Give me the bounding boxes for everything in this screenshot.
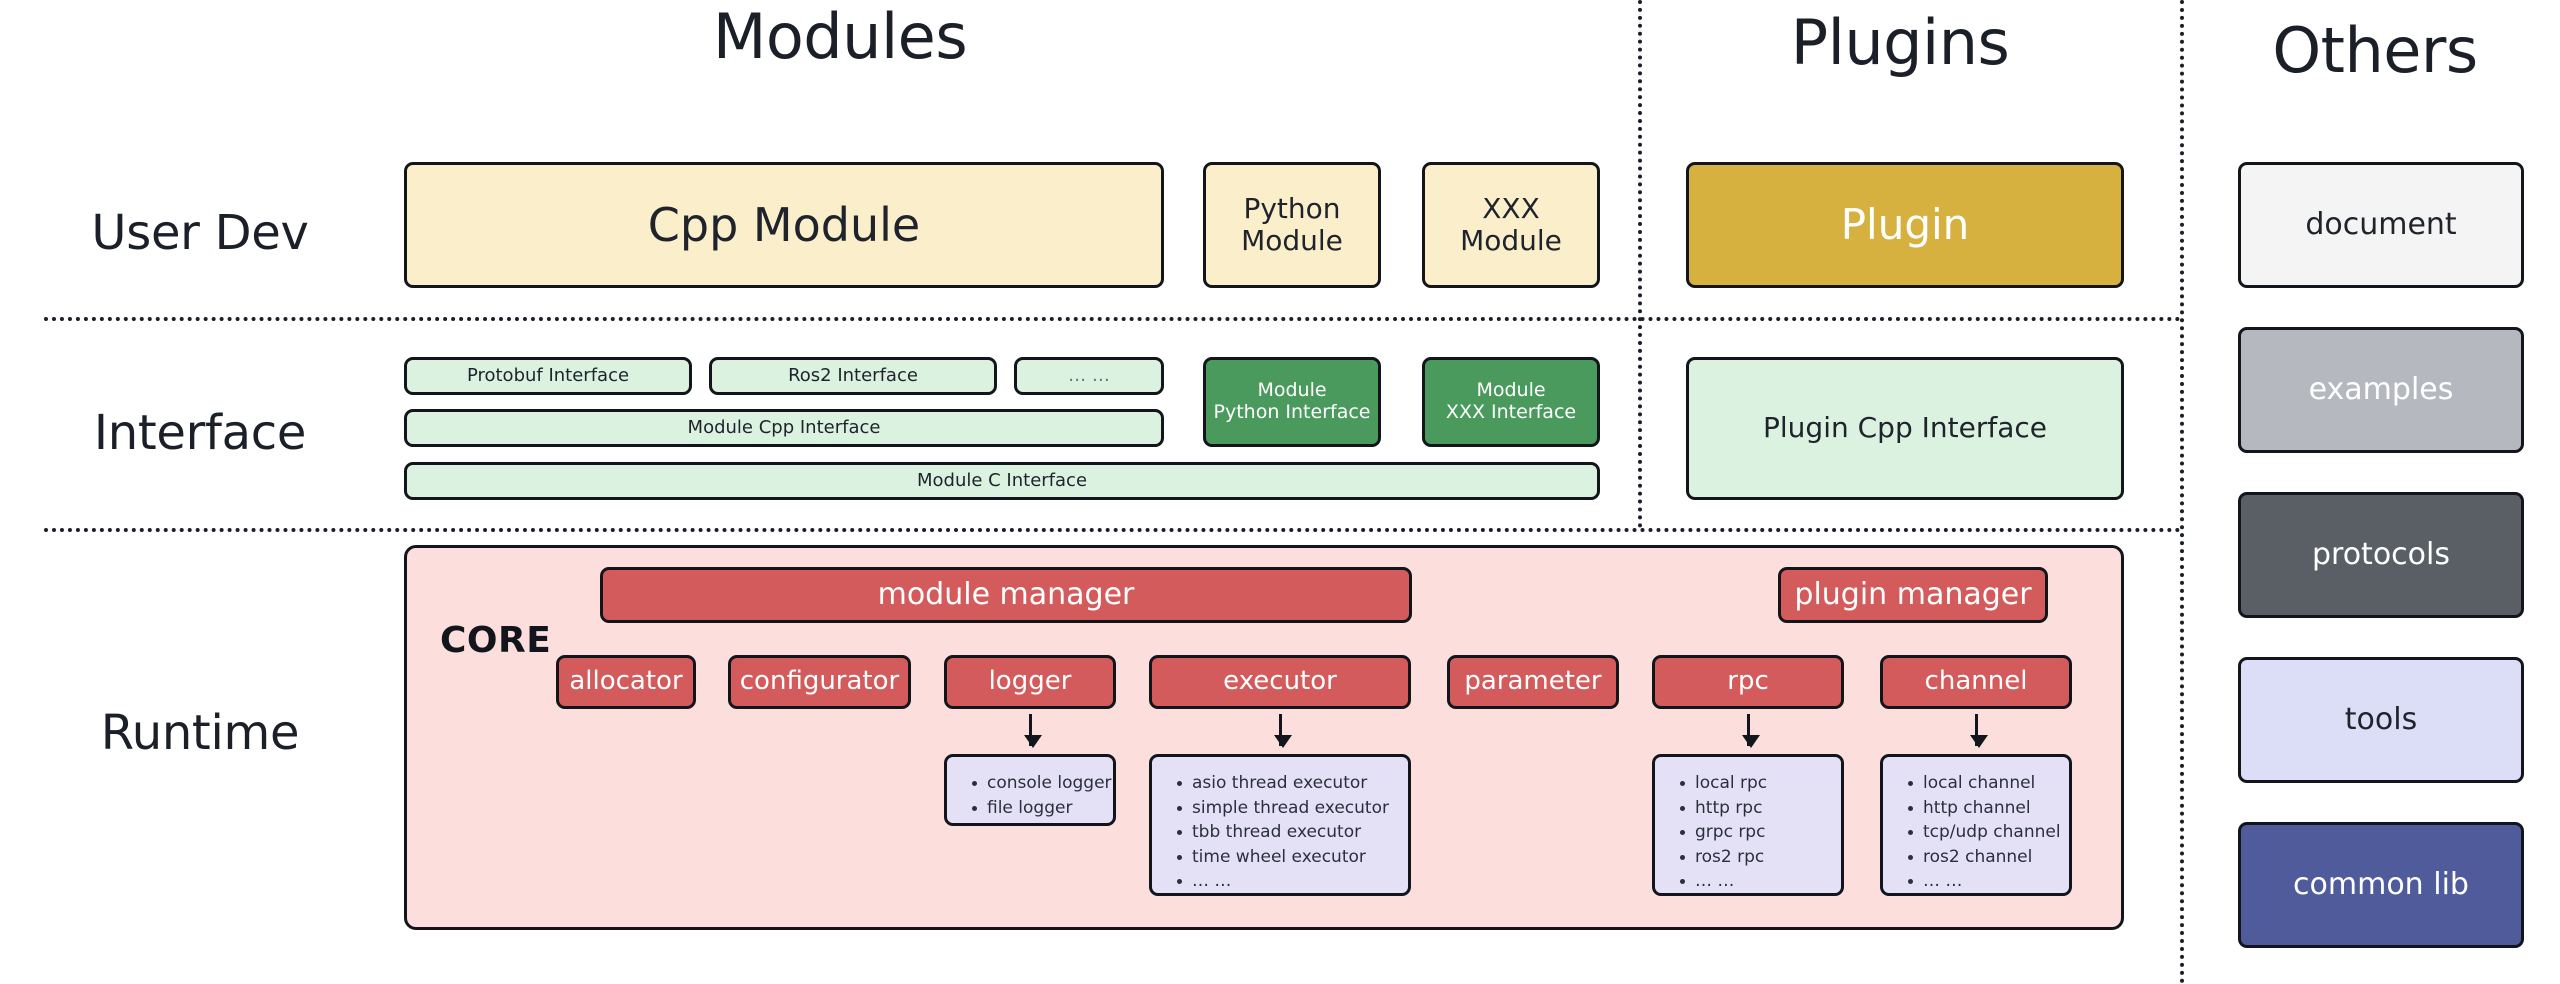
divider-userdev-interface: [44, 317, 2182, 321]
node-protobuf-interface[interactable]: Protobuf Interface: [404, 357, 692, 395]
list-item: … …: [1695, 869, 1825, 894]
list-item: http rpc: [1695, 796, 1825, 821]
divider-modules-plugins: [1638, 0, 1642, 528]
others-item-document[interactable]: document: [2238, 162, 2524, 288]
details-logger-list: console loggerfile logger: [965, 771, 1097, 820]
node-plugin[interactable]: Plugin: [1686, 162, 2124, 288]
column-title-modules: Modules: [640, 0, 1040, 73]
list-item: … …: [1192, 869, 1392, 894]
node-plugin-cpp-interface[interactable]: Plugin Cpp Interface: [1686, 357, 2124, 500]
column-title-plugins: Plugins: [1700, 6, 2100, 79]
list-item: ros2 channel: [1923, 845, 2053, 870]
node-configurator[interactable]: configurator: [728, 655, 911, 709]
list-item: asio thread executor: [1192, 771, 1392, 796]
node-allocator[interactable]: allocator: [556, 655, 696, 709]
list-item: grpc rpc: [1695, 820, 1825, 845]
arrow-logger-to-details: [1029, 714, 1032, 746]
others-item-tools[interactable]: tools: [2238, 657, 2524, 783]
details-channel: local channelhttp channeltcp/udp channel…: [1880, 754, 2072, 896]
list-item: time wheel executor: [1192, 845, 1392, 870]
node-xxx-module[interactable]: XXX Module: [1422, 162, 1600, 288]
details-rpc-list: local rpchttp rpcgrpc rpcros2 rpc… …: [1673, 771, 1825, 894]
list-item: tbb thread executor: [1192, 820, 1392, 845]
others-item-label: examples: [2309, 373, 2454, 408]
node-python-module[interactable]: Python Module: [1203, 162, 1381, 288]
divider-interface-runtime: [44, 528, 2182, 532]
list-item: ros2 rpc: [1695, 845, 1825, 870]
node-module-python-interface[interactable]: Module Python Interface: [1203, 357, 1381, 447]
node-module-manager[interactable]: module manager: [600, 567, 1412, 623]
details-executor: asio thread executorsimple thread execut…: [1149, 754, 1411, 896]
node-ros2-interface[interactable]: Ros2 Interface: [709, 357, 997, 395]
row-title-interface: Interface: [0, 405, 400, 461]
list-item: local channel: [1923, 771, 2053, 796]
node-channel[interactable]: channel: [1880, 655, 2072, 709]
node-cpp-module[interactable]: Cpp Module: [404, 162, 1164, 288]
details-channel-list: local channelhttp channeltcp/udp channel…: [1901, 771, 2053, 894]
node-executor[interactable]: executor: [1149, 655, 1411, 709]
others-item-label: tools: [2345, 703, 2417, 738]
node-module-xxx-interface[interactable]: Module XXX Interface: [1422, 357, 1600, 447]
others-item-examples[interactable]: examples: [2238, 327, 2524, 453]
node-module-cpp-interface[interactable]: Module Cpp Interface: [404, 409, 1164, 447]
list-item: local rpc: [1695, 771, 1825, 796]
list-item: tcp/udp channel: [1923, 820, 2053, 845]
architecture-diagram: Modules Plugins Others User Dev Interfac…: [0, 0, 2560, 984]
divider-plugins-others: [2180, 0, 2184, 984]
details-logger: console loggerfile logger: [944, 754, 1116, 826]
details-executor-list: asio thread executorsimple thread execut…: [1170, 771, 1392, 894]
node-other-interfaces[interactable]: … …: [1014, 357, 1164, 395]
list-item: … …: [1923, 869, 2053, 894]
list-item: simple thread executor: [1192, 796, 1392, 821]
arrow-rpc-to-details: [1747, 714, 1750, 746]
core-label: CORE: [440, 620, 551, 661]
list-item: file logger: [987, 796, 1097, 821]
row-title-user-dev: User Dev: [0, 205, 400, 261]
row-title-runtime: Runtime: [0, 705, 400, 761]
others-item-label: protocols: [2312, 538, 2450, 573]
list-item: console logger: [987, 771, 1097, 796]
others-item-common-lib[interactable]: common lib: [2238, 822, 2524, 948]
node-parameter[interactable]: parameter: [1447, 655, 1619, 709]
arrow-channel-to-details: [1975, 714, 1978, 746]
arrow-executor-to-details: [1279, 714, 1282, 746]
node-plugin-manager[interactable]: plugin manager: [1778, 567, 2048, 623]
node-rpc[interactable]: rpc: [1652, 655, 1844, 709]
others-item-label: common lib: [2293, 868, 2469, 903]
node-logger[interactable]: logger: [944, 655, 1116, 709]
others-item-protocols[interactable]: protocols: [2238, 492, 2524, 618]
column-title-others: Others: [2175, 14, 2560, 87]
node-module-c-interface[interactable]: Module C Interface: [404, 462, 1600, 500]
others-item-label: document: [2305, 208, 2456, 243]
details-rpc: local rpchttp rpcgrpc rpcros2 rpc… …: [1652, 754, 1844, 896]
list-item: http channel: [1923, 796, 2053, 821]
